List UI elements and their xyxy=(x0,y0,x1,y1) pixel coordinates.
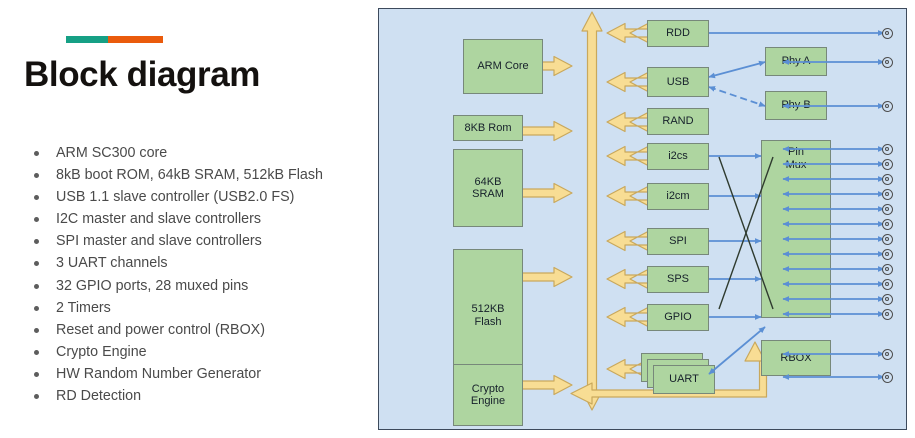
pin-ring[interactable] xyxy=(882,28,893,39)
list-item: HW Random Number Generator xyxy=(24,363,372,385)
list-item: SPI master and slave controllers xyxy=(24,230,372,252)
list-item: Reset and power control (RBOX) xyxy=(24,319,372,341)
pin-ring[interactable] xyxy=(882,159,893,170)
pin-ring[interactable] xyxy=(882,174,893,185)
pin-ring[interactable] xyxy=(882,57,893,68)
slide-left-panel: Block diagram ARM SC300 core 8kB boot RO… xyxy=(0,0,372,438)
accent-bar-teal xyxy=(66,36,108,43)
feature-list: ARM SC300 core 8kB boot ROM, 64kB SRAM, … xyxy=(24,142,372,407)
block-diagram: ARM Core 8KB Rom 64KB SRAM 512KB Flash C… xyxy=(378,8,907,430)
list-item: ARM SC300 core xyxy=(24,142,372,164)
pin-ring[interactable] xyxy=(882,144,893,155)
signal-lines xyxy=(379,9,908,431)
pin-ring[interactable] xyxy=(882,249,893,260)
list-item: Crypto Engine xyxy=(24,341,372,363)
list-item: 3 UART channels xyxy=(24,252,372,274)
list-item: RD Detection xyxy=(24,385,372,407)
pin-ring[interactable] xyxy=(882,219,893,230)
pin-ring[interactable] xyxy=(882,234,893,245)
accent-bar-orange xyxy=(108,36,163,43)
pin-ring[interactable] xyxy=(882,309,893,320)
page-title: Block diagram xyxy=(24,56,364,95)
pin-ring[interactable] xyxy=(882,204,893,215)
list-item: I2C master and slave controllers xyxy=(24,208,372,230)
list-item: 2 Timers xyxy=(24,297,372,319)
pin-ring[interactable] xyxy=(882,372,893,383)
list-item: USB 1.1 slave controller (USB2.0 FS) xyxy=(24,186,372,208)
pin-ring[interactable] xyxy=(882,264,893,275)
pin-ring[interactable] xyxy=(882,279,893,290)
list-item: 8kB boot ROM, 64kB SRAM, 512kB Flash xyxy=(24,164,372,186)
list-item: 32 GPIO ports, 28 muxed pins xyxy=(24,275,372,297)
pin-ring[interactable] xyxy=(882,294,893,305)
pin-ring[interactable] xyxy=(882,101,893,112)
accent-bar xyxy=(66,36,163,43)
pin-mux-crossing xyxy=(719,157,773,309)
pin-ring[interactable] xyxy=(882,349,893,360)
pin-ring[interactable] xyxy=(882,189,893,200)
